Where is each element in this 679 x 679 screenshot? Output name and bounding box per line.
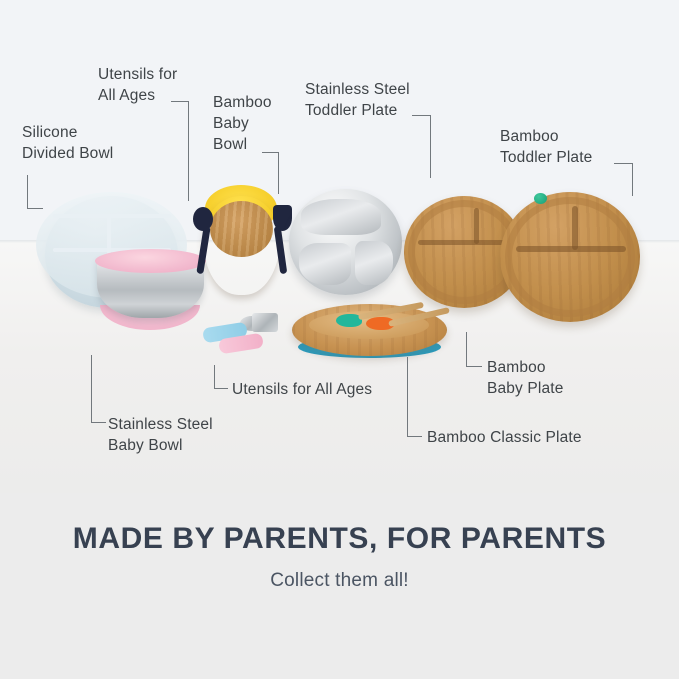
footer-subline: Collect them all! bbox=[0, 570, 679, 592]
steel-plate-compartment-top bbox=[301, 199, 381, 235]
green-suction-tab-icon bbox=[534, 193, 547, 204]
bamboo-bowl-interior bbox=[210, 201, 273, 257]
product-stainless-steel-toddler-plate bbox=[289, 189, 402, 295]
label-stainless-steel-baby-bowl: Stainless Steel Baby Bowl bbox=[108, 414, 213, 456]
steel-plate-compartment-right bbox=[355, 241, 393, 285]
infographic-canvas: Silicone Divided Bowl Utensils for All A… bbox=[0, 0, 679, 679]
steel-fork-head-icon bbox=[252, 313, 278, 332]
product-bamboo-baby-bowl bbox=[203, 196, 280, 295]
label-stainless-steel-toddler-plate: Stainless Steel Toddler Plate bbox=[305, 79, 410, 121]
label-bamboo-baby-plate: Bamboo Baby Plate bbox=[487, 357, 563, 399]
steel-plate-compartment-left bbox=[299, 243, 351, 285]
steel-baby-bowl-pink-lid bbox=[95, 249, 206, 273]
bamboo-divider-back-h bbox=[418, 240, 510, 245]
bamboo-divider-front-v bbox=[572, 206, 578, 250]
bamboo-divider-back-v bbox=[474, 208, 479, 244]
label-utensils-all-ages-top: Utensils for All Ages bbox=[98, 64, 177, 106]
footer-headline: MADE BY PARENTS, FOR PARENTS bbox=[0, 522, 679, 556]
label-bamboo-baby-bowl: Bamboo Baby Bowl bbox=[213, 92, 272, 155]
label-silicone-divided-bowl: Silicone Divided Bowl bbox=[22, 122, 113, 164]
product-bamboo-toddler-plate bbox=[500, 192, 640, 322]
silicone-divider-horizontal bbox=[53, 214, 171, 218]
bamboo-plate-rim-front bbox=[505, 197, 635, 317]
bamboo-divider-front-h bbox=[516, 246, 626, 252]
product-bamboo-classic-plate bbox=[292, 304, 447, 356]
label-bamboo-toddler-plate: Bamboo Toddler Plate bbox=[500, 126, 592, 168]
label-bamboo-classic-plate: Bamboo Classic Plate bbox=[427, 427, 582, 448]
label-utensils-all-ages-bottom: Utensils for All Ages bbox=[232, 379, 372, 400]
